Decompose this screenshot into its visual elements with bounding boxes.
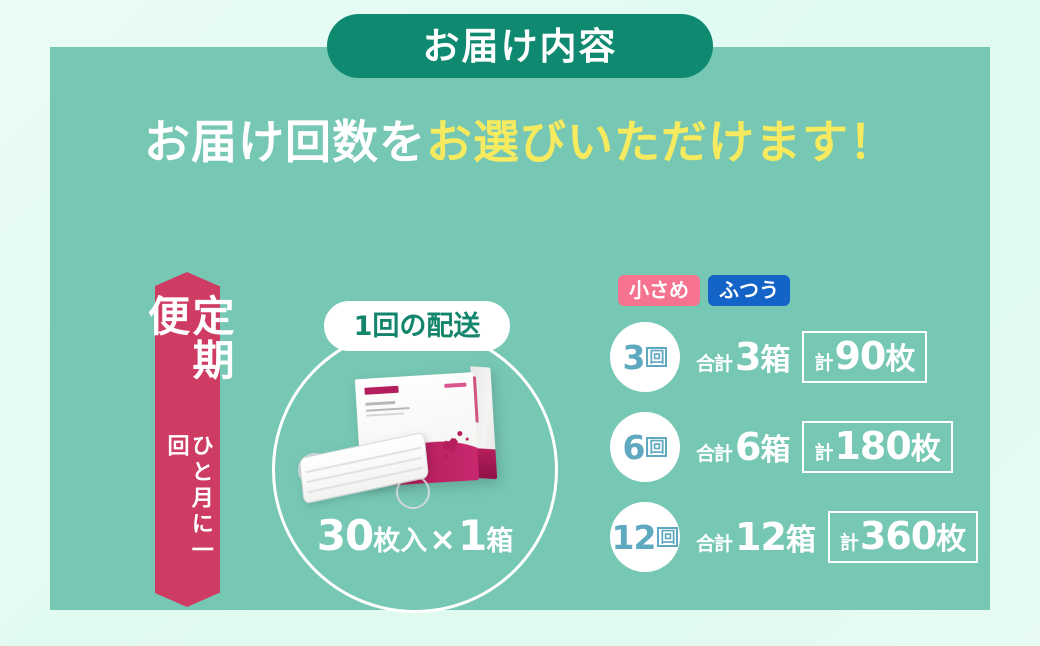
plan-total-label: 合計 [696,439,732,466]
plan-count-number: 3 [623,338,645,377]
quantity-number: 30 [317,511,373,560]
plan-total-number: 3 [735,335,760,379]
delivery-unit-group: 1回の配送 [272,327,564,619]
ribbon-main-label: 定期便 [143,294,232,426]
page-title: お届け内容 [423,28,618,65]
plan-sheets-number: 90 [834,337,885,375]
plan-count-unit: 回 [646,437,667,457]
plan-options-column: 小さめ ふつう 3回 合計3箱 計90枚 6回 合計6箱 計180枚 [610,275,1010,592]
ribbon-text-stack: 定期便 ひと月に一回 [155,294,220,589]
plan-row[interactable]: 12回 合計12箱 計360枚 [610,502,1010,572]
page-headline: お届け回数をお選びいただけます！ [0,119,1040,165]
one-delivery-label: 1回の配送 [354,313,481,340]
box-count-unit: 箱 [486,526,513,557]
plan-count-number: 6 [623,428,645,467]
multiply-symbol: × [427,520,458,558]
plan-count-unit: 回 [657,527,678,547]
one-delivery-pill: 1回の配送 [324,301,510,351]
size-badge-group: 小さめ ふつう [618,275,1010,306]
quantity-unit: 枚入 [373,526,427,557]
plan-sheets-unit: 枚 [911,435,941,465]
plan-total-label: 合計 [696,349,732,376]
box-text-line [365,401,395,406]
plan-count-badge: 6回 [610,412,680,482]
plan-total-sheets: 計180枚 [802,421,952,473]
ribbon-cap-bottom [155,593,219,607]
plan-sheets-number: 360 [860,517,936,555]
plan-count-number: 12 [612,518,656,557]
plan-total-sheets: 計90枚 [802,331,927,383]
box-corner-tag [444,383,466,388]
heart-dot-icon [457,431,462,436]
plan-total-number: 6 [735,425,760,469]
plan-total-unit: 箱 [760,425,790,469]
ribbon-sub-label: ひと月に一回 [163,434,211,589]
plan-total-boxes: 合計12箱 [696,515,816,559]
plan-total-number: 12 [735,515,786,559]
headline-white-part: お届け回数を [144,115,426,169]
plan-row[interactable]: 3回 合計3箱 計90枚 [610,322,1010,392]
heart-dot-icon [466,438,469,441]
plan-total-unit: 箱 [786,515,816,559]
page-title-banner: お届け内容 [327,14,713,78]
plan-total-sheets: 計360枚 [828,511,978,563]
box-count-number: 1 [458,511,486,560]
ribbon-cap-top [155,272,219,286]
plan-count-unit: 回 [646,347,667,367]
size-badge-small: 小さめ [618,275,700,306]
plan-total-label: 合計 [696,529,732,556]
size-badge-regular: ふつう [708,275,790,306]
plan-row[interactable]: 6回 合計6箱 計180枚 [610,412,1010,482]
subscription-ribbon: 定期便 ひと月に一回 [155,272,220,607]
plan-count-badge: 3回 [610,322,680,392]
plan-total-boxes: 合計6箱 [696,425,790,469]
plan-sheets-number: 180 [834,427,910,465]
quantity-line: 30枚入×1箱 [272,515,558,557]
plan-total-unit: 箱 [760,335,790,379]
plan-sheets-unit: 枚 [936,525,966,555]
box-text-line [366,407,410,412]
box-text-line [366,412,404,416]
plan-sheets-label: 計 [840,534,858,553]
sharp-logo [364,386,398,395]
plan-count-badge: 12回 [610,502,680,572]
plan-sheets-unit: 枚 [885,345,915,375]
plan-sheets-label: 計 [814,444,832,463]
plan-total-boxes: 合計3箱 [696,335,790,379]
plan-sheets-label: 計 [814,354,832,373]
headline-yellow-part: お選びいただけます！ [426,115,896,169]
